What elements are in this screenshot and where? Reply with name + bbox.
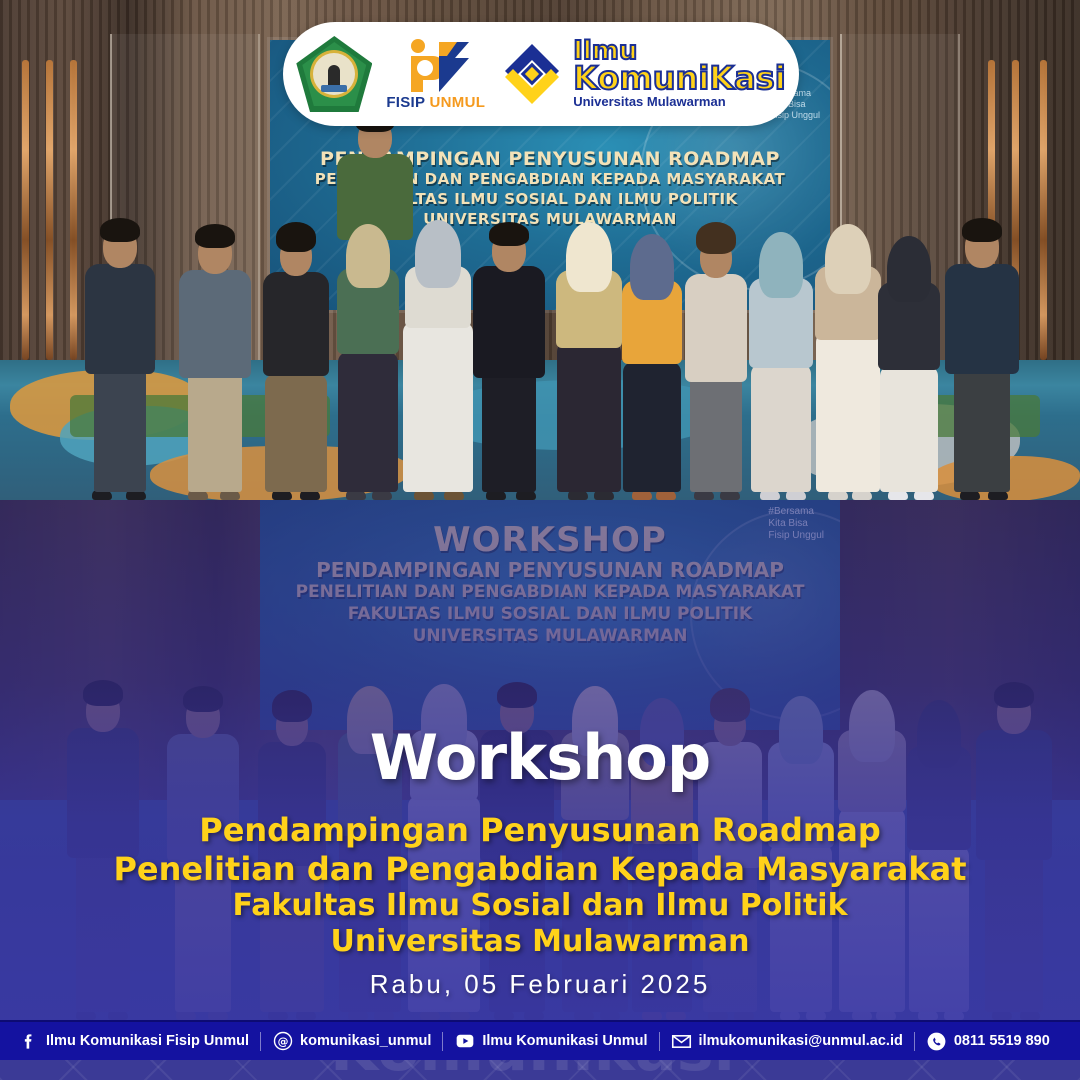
- footer-separator: [914, 1032, 915, 1051]
- footer-item-facebook[interactable]: Ilmu Komunikasi Fisip Unmul: [18, 1031, 249, 1052]
- unmul-word: UNMUL: [430, 94, 486, 111]
- dress: [403, 322, 473, 492]
- torso: [685, 274, 747, 382]
- subtitle-line-2: Penelitian dan Pengabdian Kepada Masyara…: [0, 850, 1080, 888]
- legs: [482, 372, 536, 492]
- subtitle-line-4: Universitas Mulawarman: [0, 924, 1080, 960]
- hijab: [887, 236, 931, 302]
- ilmu-komunikasi-mark-icon: [499, 41, 565, 107]
- person-top-1: [78, 200, 162, 500]
- footer-item-whatsapp[interactable]: 0811 5519 890: [926, 1031, 1050, 1052]
- hijab: [346, 224, 390, 288]
- fisip-unmul-logo: FISIP UNMUL: [386, 38, 485, 111]
- hijab: [566, 222, 612, 292]
- fisip-unmul-label: FISIP UNMUL: [386, 94, 485, 111]
- hijab: [759, 232, 803, 298]
- page-title: Workshop: [0, 726, 1080, 789]
- title-block: Workshop Pendampingan Penyusunan Roadmap…: [0, 726, 1080, 1000]
- torso: [263, 272, 329, 376]
- hair: [276, 222, 316, 252]
- universitas-mulawarman-seal-icon: [296, 36, 372, 112]
- whatsapp-icon: [926, 1031, 947, 1052]
- torso: [179, 270, 251, 378]
- footer-label-facebook: Ilmu Komunikasi Fisip Unmul: [46, 1033, 249, 1049]
- person-top-6: [466, 200, 552, 500]
- footer-label-whatsapp: 0811 5519 890: [954, 1033, 1050, 1049]
- skirt: [265, 374, 327, 492]
- ilmu-komunikasi-wordmark: Ilmu KomuniKasi Universitas Mulawarman: [573, 40, 786, 108]
- legs: [954, 368, 1010, 492]
- hair: [489, 222, 529, 246]
- skirt: [751, 364, 811, 492]
- copper-strip-2: [46, 60, 53, 360]
- ik-line-komunikasi: KomuniKasi: [573, 64, 786, 93]
- copper-strip-3: [70, 60, 77, 360]
- copper-strip-6: [1040, 60, 1047, 360]
- footer-separator: [659, 1032, 660, 1051]
- hijab: [825, 224, 871, 294]
- youtube-icon: [454, 1031, 475, 1052]
- skirt: [338, 352, 398, 492]
- hair: [195, 224, 235, 248]
- hair: [100, 218, 140, 242]
- ik-line-universitas: Universitas Mulawarman: [573, 96, 786, 108]
- skirt: [623, 362, 681, 492]
- footer-label-youtube: Ilmu Komunikasi Unmul: [482, 1033, 647, 1049]
- hijab: [415, 220, 461, 288]
- hair: [962, 218, 1002, 242]
- legs: [188, 372, 242, 492]
- footer-contact-bar: Ilmu Komunikasi Fisip Unmul @ komunikasi…: [0, 1020, 1080, 1060]
- ilmu-komunikasi-logo: Ilmu KomuniKasi Universitas Mulawarman: [499, 40, 786, 108]
- footer-separator: [442, 1032, 443, 1051]
- footer-item-instagram[interactable]: @ komunikasi_unmul: [272, 1031, 431, 1052]
- facebook-icon: [18, 1031, 39, 1052]
- fisip-mark-icon: [399, 38, 473, 92]
- svg-text:@: @: [277, 1035, 288, 1048]
- torso: [945, 264, 1019, 374]
- legs: [690, 376, 742, 492]
- event-date: Rabu, 05 Februari 2025: [0, 969, 1080, 1000]
- person-top-13: [938, 200, 1026, 500]
- fisip-word: FISIP: [386, 94, 429, 111]
- footer-separator: [260, 1032, 261, 1051]
- suit: [473, 266, 545, 378]
- instagram-icon: @: [272, 1031, 293, 1052]
- seal-figure: [328, 65, 340, 87]
- footer-label-email: ilmukomunikasi@unmul.ac.id: [699, 1033, 903, 1049]
- legs: [94, 368, 146, 492]
- seal-water-lines: [321, 85, 347, 92]
- footer-label-instagram: komunikasi_unmul: [300, 1033, 431, 1049]
- person-top-2: [172, 205, 258, 500]
- skirt: [880, 366, 938, 492]
- subtitle-line-1: Pendampingan Penyusunan Roadmap: [0, 811, 1080, 849]
- hijab: [630, 234, 674, 300]
- hair: [696, 222, 736, 254]
- copper-strip-1: [22, 60, 29, 360]
- person-top-3: [254, 210, 338, 500]
- torso: [85, 264, 155, 374]
- footer-item-email[interactable]: ilmukomunikasi@unmul.ac.id: [671, 1031, 903, 1052]
- poster-canvas: #Bersama Kita Bisa Fisip Unggul PENDAMPI…: [0, 0, 1080, 1080]
- footer-item-youtube[interactable]: Ilmu Komunikasi Unmul: [454, 1031, 647, 1052]
- email-icon: [671, 1031, 692, 1052]
- logo-pill: FISIP UNMUL Ilmu KomuniKasi Universitas …: [283, 22, 799, 126]
- subtitle-line-3: Fakultas Ilmu Sosial dan Ilmu Politik: [0, 888, 1080, 924]
